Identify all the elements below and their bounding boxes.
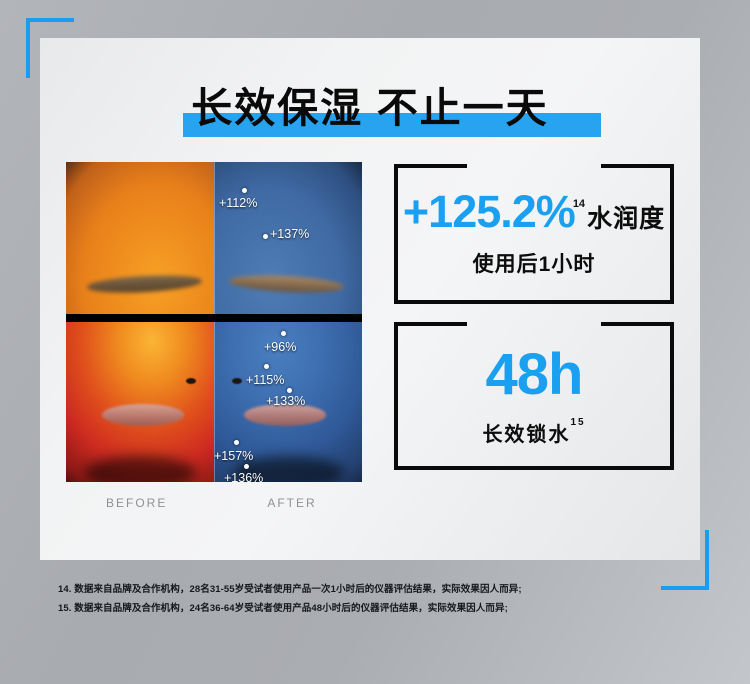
measure-dot xyxy=(287,388,292,393)
content-area: +112% +137% +96% +115% +133% +157% +136%… xyxy=(40,140,700,510)
stat-subtitle-duration: 长效锁水 xyxy=(482,424,570,446)
nostril-shape xyxy=(232,378,242,384)
stat-box-duration: 48h 长效锁水15 xyxy=(394,322,674,470)
stat-subtitle-hydration: 使用后1小时 xyxy=(394,248,674,278)
stat-unit-hydration: 水润度 xyxy=(587,205,665,233)
stat-value-duration: 48h xyxy=(394,346,674,404)
after-label: AFTER xyxy=(267,496,316,510)
lips-shape xyxy=(102,404,185,426)
measure-label-157: +157% xyxy=(214,449,253,463)
headline: 长效保湿 不止一天 xyxy=(40,78,700,140)
measure-dot xyxy=(242,188,247,193)
thermal-comparison-panel: +112% +137% +96% +115% +133% +157% +136%… xyxy=(66,162,362,482)
footnotes: 14. 数据来自品牌及合作机构，28名31-55岁受试者使用产品一次1小时后的仪… xyxy=(58,580,522,618)
nostril-shape xyxy=(186,378,196,384)
measure-label-136: +136% xyxy=(224,471,263,482)
forehead-thermal-image xyxy=(66,162,362,314)
measure-dot xyxy=(281,331,286,336)
eyebrow-shape xyxy=(86,273,202,295)
stats-column: +125.2%14水润度 使用后1小时 48h 长效锁水15 xyxy=(394,162,674,510)
forehead-before-half xyxy=(66,162,214,314)
measure-label-96: +96% xyxy=(264,340,296,354)
promo-card: 长效保湿 不止一天 xyxy=(40,38,700,560)
stat-value-hydration: +125.2% xyxy=(403,186,575,237)
before-label: BEFORE xyxy=(106,496,167,510)
split-seam xyxy=(214,162,215,314)
measure-dot xyxy=(244,464,249,469)
eyebrow-shape xyxy=(228,273,344,295)
comparison-column: +112% +137% +96% +115% +133% +157% +136%… xyxy=(66,162,376,510)
footnote-15: 15. 数据来自品牌及合作机构，24名36-64岁受试者使用产品48小时后的仪器… xyxy=(58,599,522,618)
headline-text: 长效保湿 不止一天 xyxy=(40,78,700,138)
footnote-14: 14. 数据来自品牌及合作机构，28名31-55岁受试者使用产品一次1小时后的仪… xyxy=(58,580,522,599)
chin-shadow xyxy=(84,456,196,482)
measure-dot xyxy=(264,364,269,369)
stat-headline-row: +125.2%14水润度 xyxy=(394,186,674,238)
frame-edge xyxy=(394,466,674,470)
stat-superscript: 14 xyxy=(573,198,585,210)
lowerface-before-half xyxy=(66,322,214,482)
stat-subtitle-duration-row: 长效锁水15 xyxy=(394,418,674,447)
measure-label-137: +137% xyxy=(270,227,309,241)
stat-superscript: 15 xyxy=(570,417,585,428)
measure-dot xyxy=(234,440,239,445)
before-after-labels: BEFORE AFTER xyxy=(66,496,376,510)
frame-edge xyxy=(394,300,674,304)
measure-label-115: +115% xyxy=(246,373,284,387)
stat-box-hydration: +125.2%14水润度 使用后1小时 xyxy=(394,164,674,304)
measure-label-133: +133% xyxy=(266,394,305,408)
measure-label-112: +112% xyxy=(219,196,257,210)
measure-dot xyxy=(263,234,268,239)
